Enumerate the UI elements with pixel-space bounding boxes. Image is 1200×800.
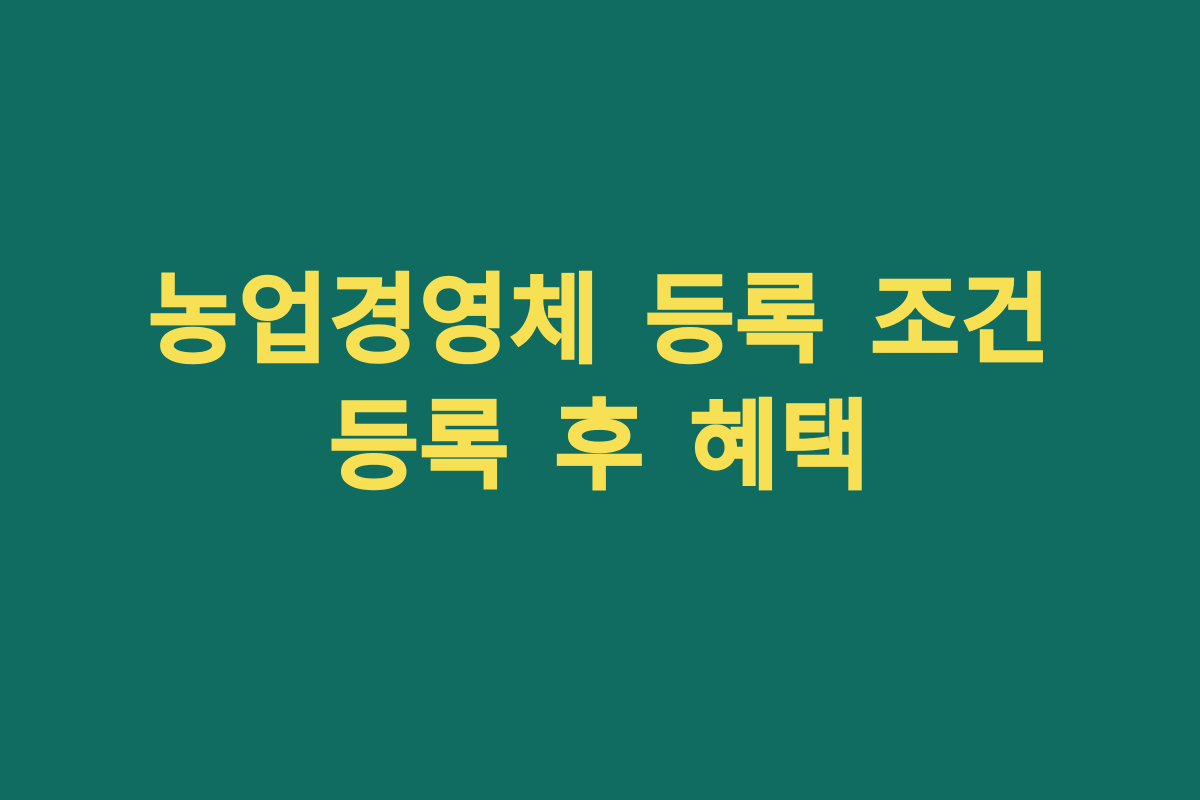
page-title: 농업경영체 등록 조건 등록 후 혜택 [77, 258, 1123, 510]
headline-block: 농업경영체 등록 조건 등록 후 혜택 [77, 258, 1123, 510]
title-card: 농업경영체 등록 조건 등록 후 혜택 [0, 0, 1200, 800]
